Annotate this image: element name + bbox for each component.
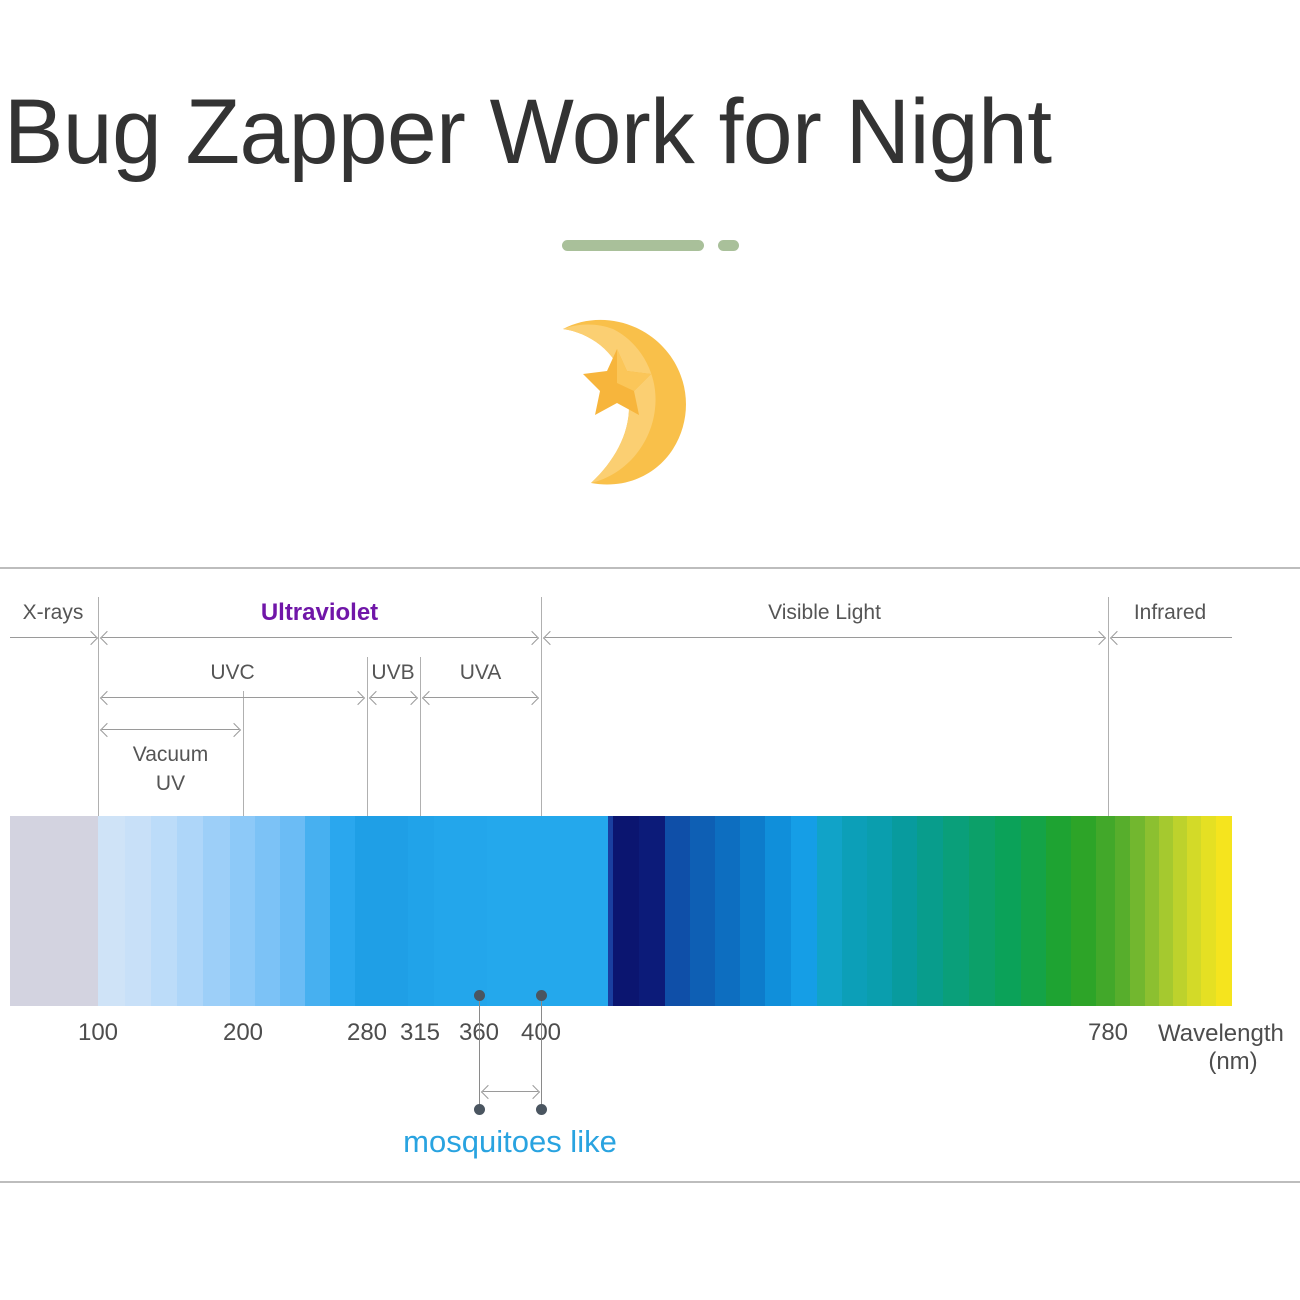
spectrum-chart-panel: X-rays Ultraviolet Visible Light Infrare… [0, 567, 1300, 1183]
range-arrow-vacuum-uv [102, 729, 239, 731]
spectrum-band [1145, 816, 1159, 1006]
subregion-label-uvc: UVC [98, 661, 367, 685]
spectrum-band [1201, 816, 1216, 1006]
spectrum-band [434, 816, 487, 1006]
spectrum-band [1130, 816, 1145, 1006]
page-title: Bug Zapper Work for Night [0, 86, 1261, 178]
spectrum-band [10, 816, 98, 1006]
range-arrow-visible-light [545, 637, 1104, 639]
tick-label-780: 780 [1068, 1019, 1148, 1047]
spectrum-band [280, 816, 305, 1006]
spectrum-band [1187, 816, 1201, 1006]
spectrum-band [917, 816, 943, 1006]
spectrum-band [98, 816, 125, 1006]
spectrum-band [1021, 816, 1046, 1006]
spectrum-band [1216, 816, 1232, 1006]
spectrum-band [1046, 816, 1071, 1006]
spectrum-band [765, 816, 791, 1006]
spectrum-band [969, 816, 995, 1006]
range-arrow-uva [424, 697, 537, 699]
spectrum-band [330, 816, 355, 1006]
spectrum-band [842, 816, 867, 1006]
spectrum-band [791, 816, 817, 1006]
title-divider [0, 238, 1300, 252]
subregion-label-uvb: UVB [360, 661, 426, 685]
spectrum-band [381, 816, 408, 1006]
crescent-moon-with-star-icon [555, 313, 745, 493]
spectrum-band [487, 816, 608, 1006]
spectrum-band [995, 816, 1021, 1006]
annotation-label-mosquitoes-like: mosquitoes like [330, 1124, 690, 1160]
spectrum-band [740, 816, 765, 1006]
spectrum-band [690, 816, 715, 1006]
spectrum-band [355, 816, 381, 1006]
spectrum-band [408, 816, 434, 1006]
hero-icon-container [0, 308, 1300, 498]
spectrum-band [943, 816, 969, 1006]
divider-dash-long [562, 240, 704, 251]
divider-dash-short [718, 240, 739, 251]
annotation-dot-360-bottom [474, 1104, 485, 1115]
spectrum-band [715, 816, 740, 1006]
range-arrow-ultraviolet [102, 637, 537, 639]
spectrum-band [1071, 816, 1096, 1006]
region-label-xrays: X-rays [10, 601, 96, 625]
region-label-infrared: Infrared [1108, 601, 1232, 625]
spectrum-band [1173, 816, 1187, 1006]
annotation-range-arrow [483, 1091, 538, 1093]
spectrum-band [665, 816, 690, 1006]
subregion-label-vacuum-uv-line2: UV [98, 772, 243, 796]
range-arrow-uvb [371, 697, 416, 699]
spectrum-band [892, 816, 917, 1006]
subregion-label-uva: UVA [420, 661, 541, 685]
axis-title-wavelength-unit: (nm) [1158, 1047, 1300, 1077]
annotation-dot-400 [536, 990, 547, 1001]
spectrum-band [613, 816, 639, 1006]
spectrum-band [1096, 816, 1115, 1006]
spectrum-band [177, 816, 203, 1006]
spectrum-band [230, 816, 255, 1006]
spectrum-band [867, 816, 892, 1006]
spectrum-band [1159, 816, 1173, 1006]
spectrum-band [817, 816, 842, 1006]
axis-title-wavelength: Wavelength [1158, 1019, 1300, 1049]
spectrum-band [1115, 816, 1130, 1006]
vrule-200nm [243, 691, 244, 816]
tick-label-200: 200 [203, 1019, 283, 1047]
range-arrow-uvc [102, 697, 363, 699]
spectrum-band [203, 816, 230, 1006]
spectrum-chart-inner: X-rays Ultraviolet Visible Light Infrare… [0, 569, 1300, 1182]
range-arrow-xrays [10, 637, 96, 639]
spectrum-band [305, 816, 330, 1006]
annotation-leader-line-400 [541, 991, 542, 1109]
spectrum-band [255, 816, 280, 1006]
vrule-780nm [1108, 597, 1109, 816]
subregion-label-vacuum-uv-line1: Vacuum [98, 743, 243, 767]
tick-label-100: 100 [58, 1019, 138, 1047]
annotation-dot-360 [474, 990, 485, 1001]
spectrum-band [639, 816, 665, 1006]
spectrum-color-bar [10, 816, 1232, 1006]
vrule-400nm [541, 597, 542, 816]
region-label-visible-light: Visible Light [541, 601, 1108, 625]
annotation-dot-400-bottom [536, 1104, 547, 1115]
range-arrow-infrared [1112, 637, 1232, 639]
region-label-ultraviolet: Ultraviolet [98, 599, 541, 627]
spectrum-band [151, 816, 177, 1006]
spectrum-band [125, 816, 151, 1006]
